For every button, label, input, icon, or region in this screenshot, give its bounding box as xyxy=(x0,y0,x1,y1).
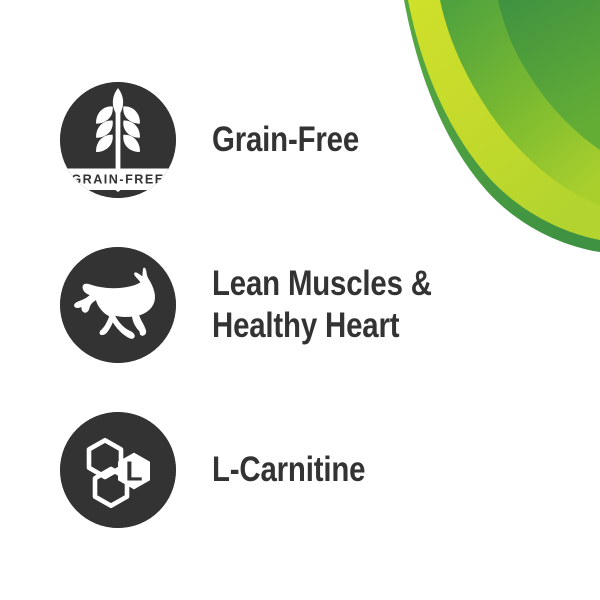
feature-label-lean-muscles: Lean Muscles & Healthy Heart xyxy=(212,263,432,346)
hexagon-molecule-icon: L xyxy=(60,412,176,528)
feature-row-lean-muscles: Lean Muscles & Healthy Heart xyxy=(0,247,600,363)
grain-free-badge: GRAIN-FREE xyxy=(60,82,176,198)
lean-muscles-badge xyxy=(60,247,176,363)
leaping-dog-icon xyxy=(60,247,176,363)
feature-label-grain-free: Grain-Free xyxy=(212,119,359,161)
grain-free-badge-text: GRAIN-FREE xyxy=(71,173,164,187)
feature-callout-panel: GRAIN-FREE Grain-Free Lean Muscles & Hea… xyxy=(0,0,600,600)
feature-label-l-carnitine: L-Carnitine xyxy=(212,449,365,491)
wheat-stalk-icon: GRAIN-FREE xyxy=(60,82,176,198)
feature-row-grain-free: GRAIN-FREE Grain-Free xyxy=(0,82,600,198)
l-carnitine-badge: L xyxy=(60,412,176,528)
l-carnitine-badge-letter: L xyxy=(125,455,142,486)
feature-row-l-carnitine: L L-Carnitine xyxy=(0,412,600,528)
